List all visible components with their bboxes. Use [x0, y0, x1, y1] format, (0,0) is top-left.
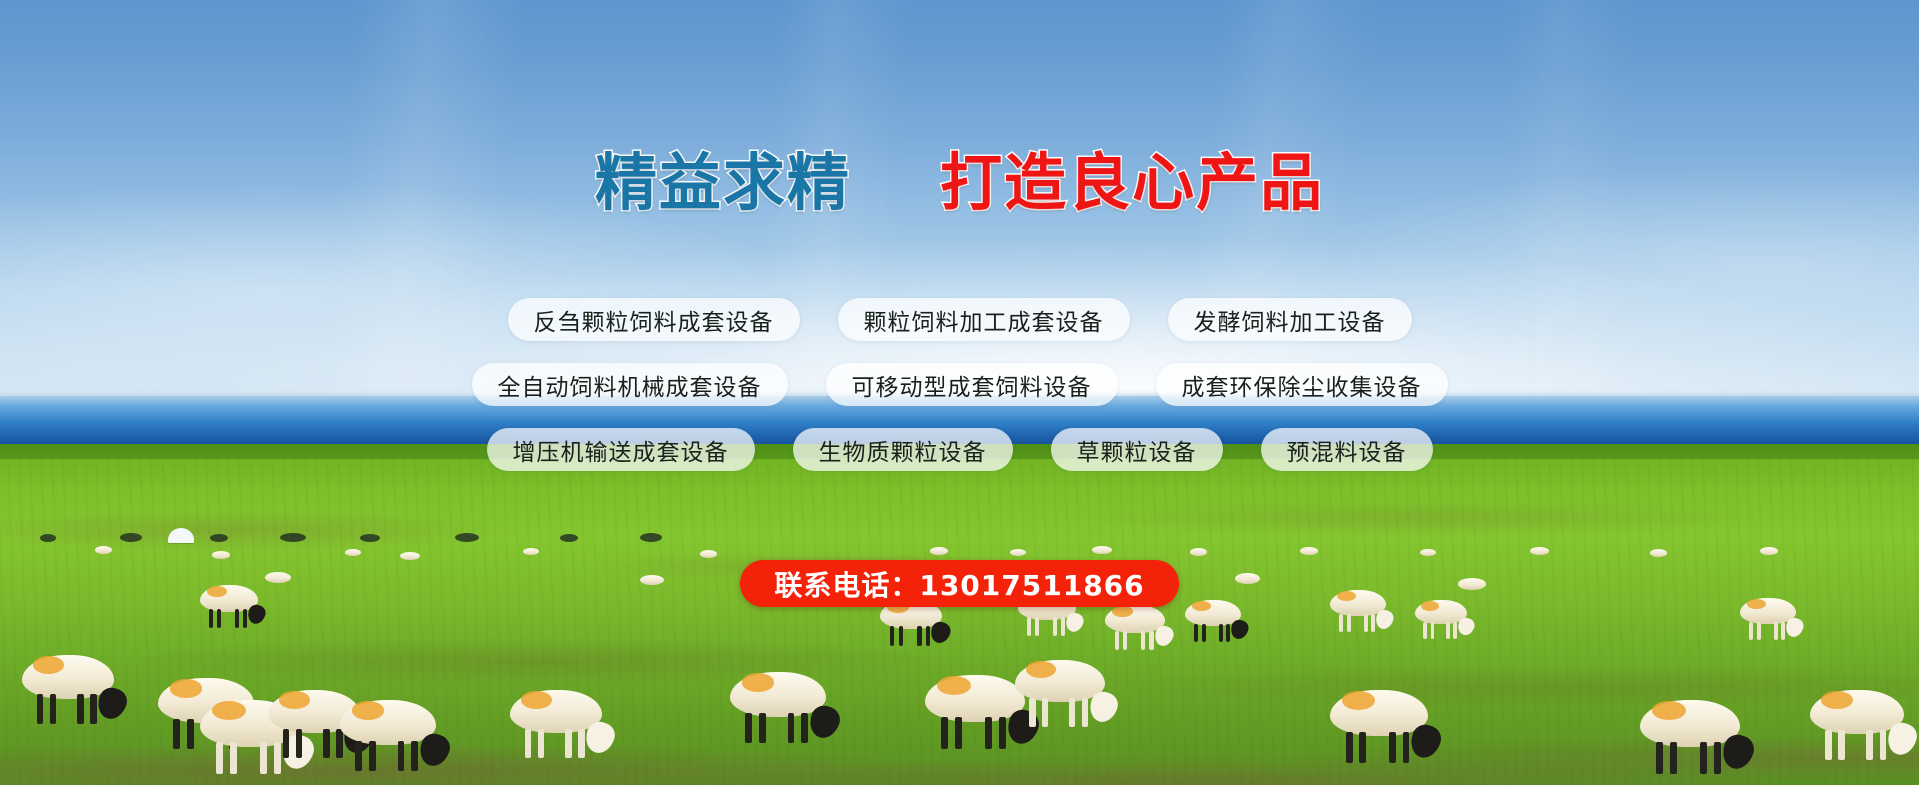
product-row-1: 反刍颗粒饲料成套设备 颗粒饲料加工成套设备 发酵饲料加工设备	[0, 298, 1919, 341]
sheep	[925, 675, 1025, 748]
sheep	[1330, 690, 1428, 762]
sheep	[1015, 660, 1105, 726]
product-pill[interactable]: 预混料设备	[1261, 428, 1433, 471]
sheep	[1010, 549, 1026, 560]
product-pill[interactable]: 生物质颗粒设备	[793, 428, 1013, 471]
product-pill[interactable]: 发酵饲料加工设备	[1168, 298, 1412, 341]
sheep	[345, 549, 361, 560]
distant-livestock	[120, 533, 142, 542]
sheep	[1190, 548, 1207, 560]
product-pill[interactable]: 反刍颗粒饲料成套设备	[508, 298, 800, 341]
headline-part-blue: 精益求精	[595, 146, 851, 219]
distant-livestock	[280, 533, 306, 542]
sheep	[730, 672, 826, 742]
sheep	[1810, 690, 1904, 759]
sheep	[340, 700, 436, 770]
contact-phone-banner[interactable]: 联系电话：13017511866	[740, 560, 1178, 607]
sheep	[1300, 547, 1318, 559]
distant-livestock	[455, 533, 479, 542]
sheep	[22, 655, 114, 723]
sheep	[1760, 547, 1778, 559]
headline-part-red: 打造良心产品	[940, 146, 1324, 219]
distant-livestock	[640, 533, 662, 542]
sheep	[1092, 546, 1112, 559]
sheep	[95, 546, 112, 558]
sheep	[1420, 549, 1436, 560]
contact-phone-wrapper: 联系电话：13017511866	[0, 560, 1919, 607]
sheep	[1640, 700, 1740, 773]
sheep	[1530, 547, 1549, 559]
product-row-2: 全自动饲料机械成套设备 可移动型成套饲料设备 成套环保除尘收集设备	[0, 363, 1919, 406]
distant-livestock	[560, 534, 578, 542]
distant-livestock	[40, 534, 56, 542]
product-pill[interactable]: 可移动型成套饲料设备	[826, 363, 1118, 406]
sheep	[523, 548, 539, 559]
hero-banner: 精益求精 打造良心产品 反刍颗粒饲料成套设备 颗粒饲料加工成套设备 发酵饲料加工…	[0, 0, 1919, 785]
product-pill[interactable]: 成套环保除尘收集设备	[1156, 363, 1448, 406]
product-pill[interactable]: 颗粒饲料加工成套设备	[838, 298, 1130, 341]
product-pill[interactable]: 增压机输送成套设备	[487, 428, 755, 471]
product-category-list: 反刍颗粒饲料成套设备 颗粒饲料加工成套设备 发酵饲料加工设备 全自动饲料机械成套…	[0, 298, 1919, 493]
banner-headline: 精益求精 打造良心产品	[0, 152, 1919, 214]
distant-livestock	[210, 534, 228, 542]
product-pill[interactable]: 全自动饲料机械成套设备	[472, 363, 788, 406]
product-row-3: 增压机输送成套设备 生物质颗粒设备 草颗粒设备 预混料设备	[0, 428, 1919, 471]
sheep	[510, 690, 602, 757]
product-pill[interactable]: 草颗粒设备	[1051, 428, 1223, 471]
sheep	[930, 547, 948, 559]
distant-livestock	[360, 534, 380, 542]
sheep	[1105, 605, 1165, 649]
